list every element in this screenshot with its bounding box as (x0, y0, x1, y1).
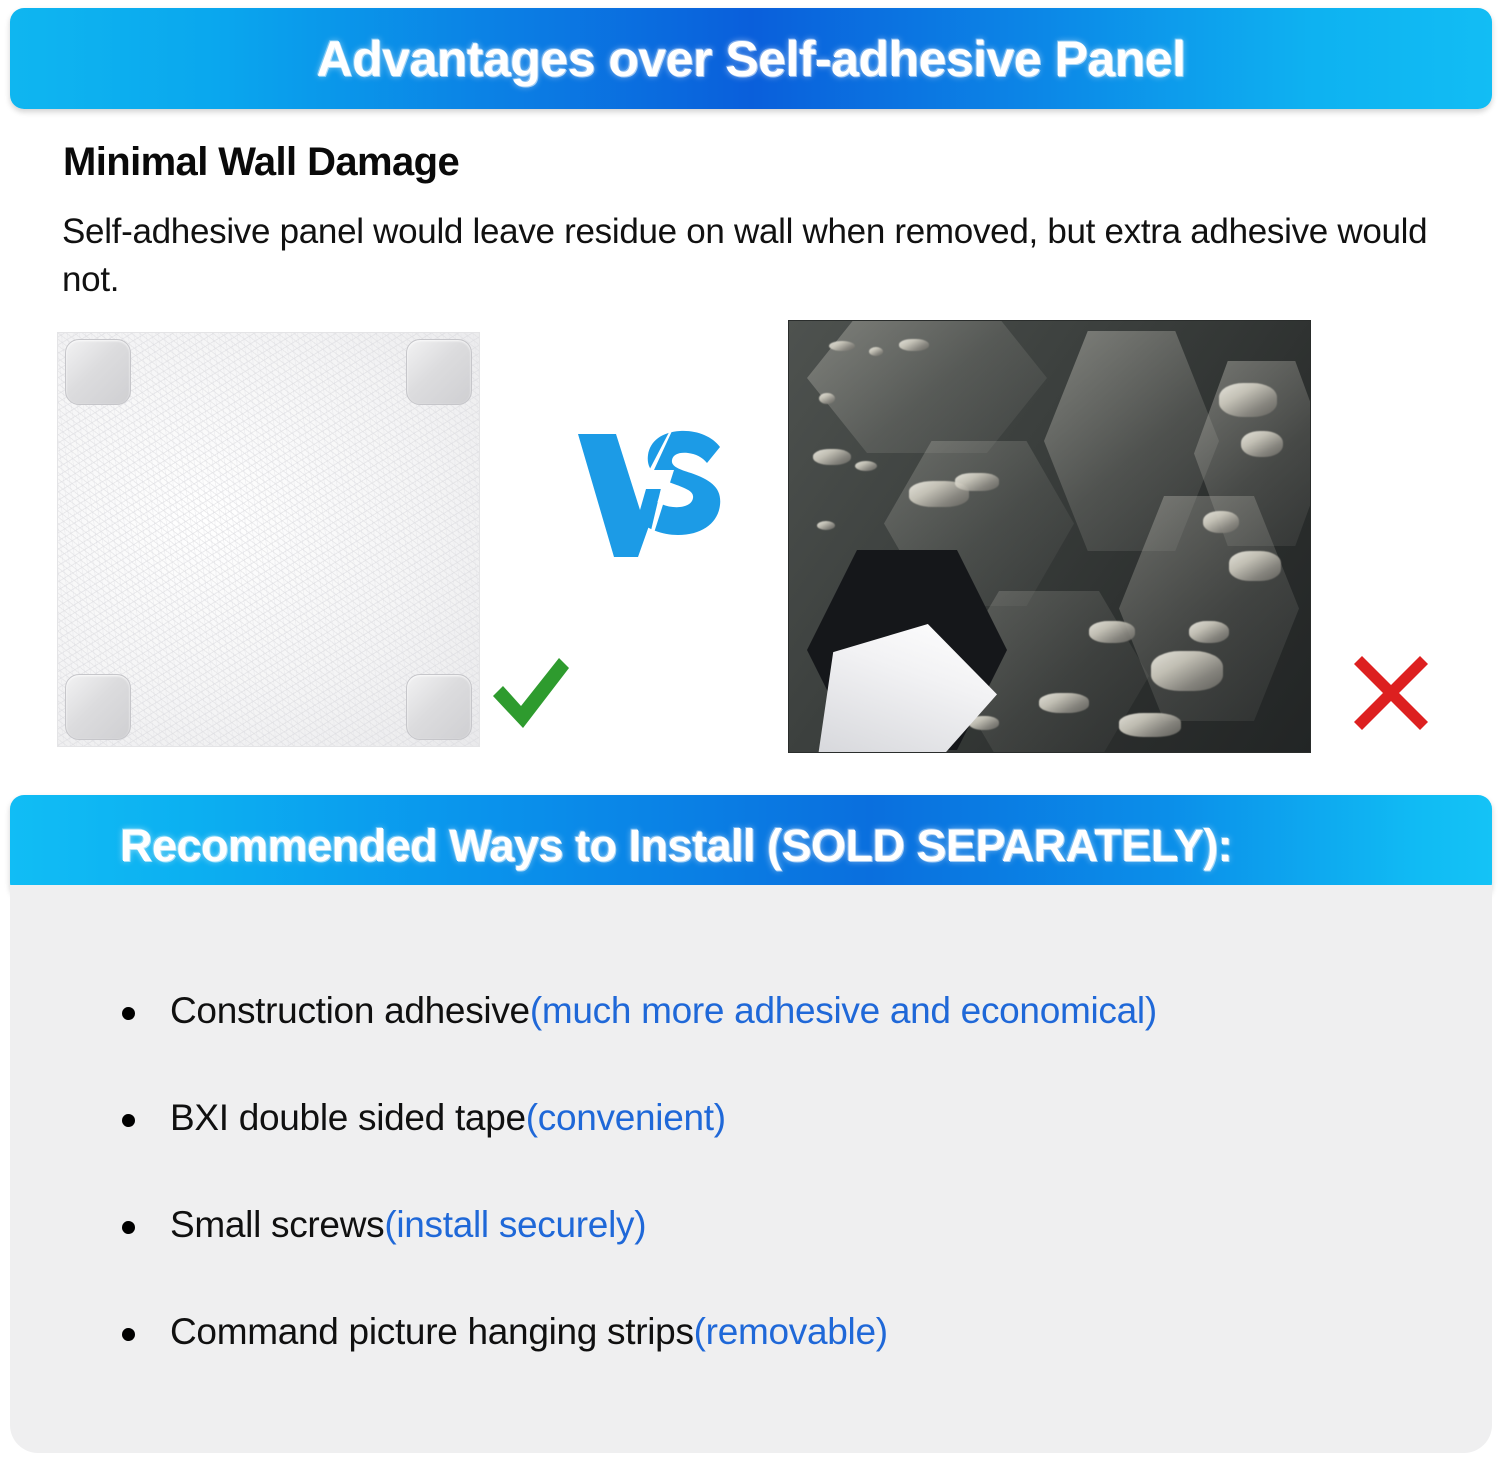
top-banner: Advantages over Self-adhesive Panel (10, 8, 1492, 109)
list-item-main: Construction adhesive (170, 989, 530, 1033)
adhesive-pad-bottom-right (406, 674, 472, 740)
paint-residue-hex-1 (807, 320, 1047, 453)
top-banner-title: Advantages over Self-adhesive Panel (10, 30, 1492, 88)
list-item-main: Command picture hanging strips (170, 1310, 694, 1354)
install-card: Construction adhesive (much more adhesiv… (10, 885, 1492, 1453)
install-list: Construction adhesive (much more adhesiv… (10, 957, 1492, 1385)
comparison-row (0, 320, 1500, 765)
vs-badge-icon (570, 392, 730, 577)
list-item-note: (removable) (694, 1310, 888, 1354)
check-icon (487, 650, 573, 736)
good-product-image (57, 332, 480, 747)
adhesive-pad-top-left (65, 339, 131, 405)
list-item-note: (much more adhesive and economical) (530, 989, 1157, 1033)
bullet-icon (122, 1328, 135, 1341)
cross-icon (1348, 650, 1434, 736)
section-paragraph: Self-adhesive panel would leave residue … (62, 208, 1452, 304)
adhesive-pad-bottom-left (65, 674, 131, 740)
list-item: BXI double sided tape (convenient) (10, 1064, 1492, 1171)
list-item-note: (install securely) (384, 1203, 646, 1247)
section-heading: Minimal Wall Damage (63, 140, 459, 185)
list-item-main: Small screws (170, 1203, 384, 1247)
bad-product-image (788, 320, 1311, 753)
list-item: Command picture hanging strips (removabl… (10, 1278, 1492, 1385)
bullet-icon (122, 1221, 135, 1234)
bullet-icon (122, 1114, 135, 1127)
infographic-page: Advantages over Self-adhesive Panel Mini… (0, 0, 1500, 1459)
bullet-icon (122, 1007, 135, 1020)
list-item-note: (convenient) (526, 1096, 726, 1140)
list-item: Small screws (install securely) (10, 1171, 1492, 1278)
list-item: Construction adhesive (much more adhesiv… (10, 957, 1492, 1064)
adhesive-pad-top-right (406, 339, 472, 405)
install-banner: Recommended Ways to Install (SOLD SEPARA… (10, 795, 1492, 897)
install-banner-title: Recommended Ways to Install (SOLD SEPARA… (10, 820, 1492, 872)
list-item-main: BXI double sided tape (170, 1096, 526, 1140)
